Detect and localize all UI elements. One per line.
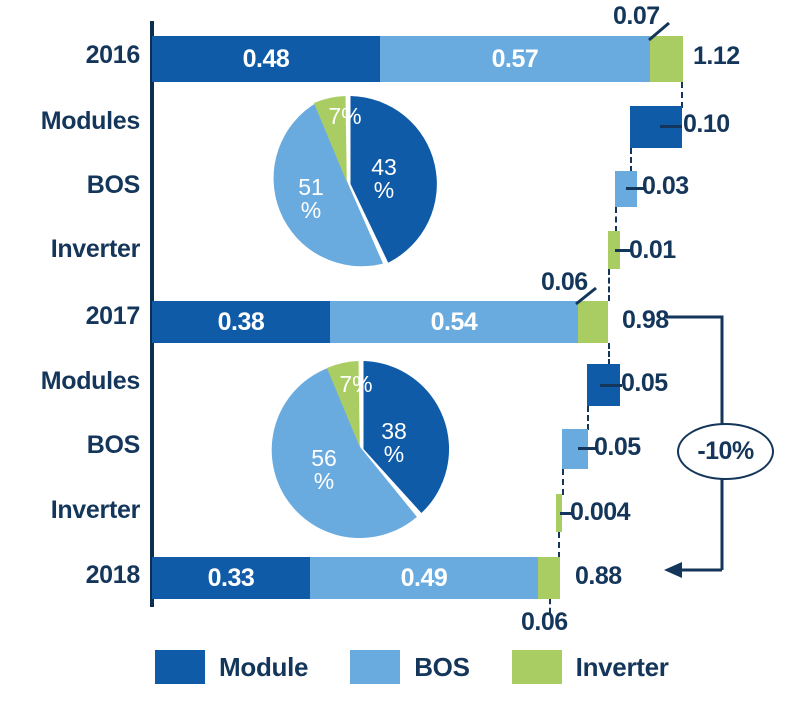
pie-2016-label-bos: 51 %	[288, 176, 334, 222]
bar-2018-total-value: 0.88	[575, 562, 622, 591]
bar-2017-module-value: 0.38	[218, 308, 265, 337]
axis-label-bos-2: BOS	[0, 431, 140, 460]
bar-2018-inverter	[538, 557, 560, 599]
legend-swatch-bos	[350, 650, 400, 684]
delta-value-bos-2: 0.05	[594, 433, 641, 462]
axis-label-modules-2: Modules	[0, 367, 140, 396]
percent-change-label: -10%	[697, 437, 753, 466]
delta-value-bos-1: 0.03	[642, 172, 689, 201]
pie-2016-label-inverter: 7%	[322, 105, 368, 128]
waterfall-chart-figure: 2016 Modules BOS Inverter 2017 Modules B…	[0, 0, 797, 705]
bar-2016-module-value: 0.48	[243, 45, 290, 74]
leader-tick-modules-1	[660, 125, 682, 128]
bar-2017-module: 0.38	[152, 301, 330, 343]
legend-swatch-inverter	[512, 650, 562, 684]
chart-legend: Module BOS Inverter	[155, 650, 711, 684]
pie-2016-label-module: 43 %	[361, 156, 407, 202]
pie-chart-2017: 38 % 56 % 7%	[266, 358, 456, 540]
pie-2017-label-module: 38 %	[371, 420, 417, 466]
legend-label-inverter: Inverter	[576, 652, 669, 683]
bar-2016-bos-value: 0.57	[492, 45, 539, 74]
percent-change-callout: -10%	[677, 423, 774, 480]
axis-label-2016: 2016	[0, 41, 140, 70]
axis-label-bos-1: BOS	[0, 171, 140, 200]
axis-label-2017: 2017	[0, 302, 140, 331]
bar-2018-bos: 0.49	[310, 557, 538, 599]
axis-label-inverter-2: Inverter	[0, 496, 140, 525]
bar-2018-module-value: 0.33	[208, 564, 255, 593]
connector-modules-to-bos-2	[587, 406, 589, 430]
legend-label-module: Module	[219, 652, 308, 683]
delta-value-inverter-1: 0.01	[629, 236, 676, 265]
bar-2017-bos-value: 0.54	[431, 308, 478, 337]
axis-label-inverter-1: Inverter	[0, 235, 140, 264]
bar-2018-inverter-value: 0.06	[521, 608, 568, 637]
delta-value-modules-1: 0.10	[683, 110, 730, 139]
connector-2016-to-modules	[681, 82, 683, 108]
connector-bos-to-inverter-2	[562, 469, 564, 495]
connector-inverter-to-2018	[558, 532, 560, 558]
bar-2016-total-value: 1.12	[693, 42, 740, 71]
legend-label-bos: BOS	[414, 652, 469, 683]
connector-modules-to-bos-1	[630, 148, 632, 172]
legend-swatch-module	[155, 650, 205, 684]
bar-2018-module: 0.33	[152, 557, 310, 599]
axis-label-2018: 2018	[0, 561, 140, 590]
bar-2016-module: 0.48	[152, 36, 380, 82]
bar-2018-bos-value: 0.49	[401, 564, 448, 593]
bar-2017-bos: 0.54	[330, 301, 578, 343]
leader-line-2017-inverter	[573, 285, 613, 313]
axis-label-modules-1: Modules	[0, 107, 140, 136]
pie-2017-label-bos: 56 %	[301, 447, 347, 493]
connector-bos-to-inverter-1	[615, 207, 617, 232]
pie-chart-2016: 43 % 51 % 7%	[253, 93, 443, 275]
leader-tick-modules-2	[600, 384, 622, 387]
bar-2016-bos: 0.57	[380, 36, 650, 82]
legend-item-bos: BOS	[350, 650, 469, 684]
delta-value-inverter-2: 0.004	[570, 498, 630, 527]
legend-item-module: Module	[155, 650, 308, 684]
legend-item-inverter: Inverter	[512, 650, 669, 684]
connector-2017-to-modules	[608, 343, 610, 365]
leader-line-2016-inverter	[645, 20, 685, 50]
pie-2017-label-inverter: 7%	[333, 373, 379, 396]
